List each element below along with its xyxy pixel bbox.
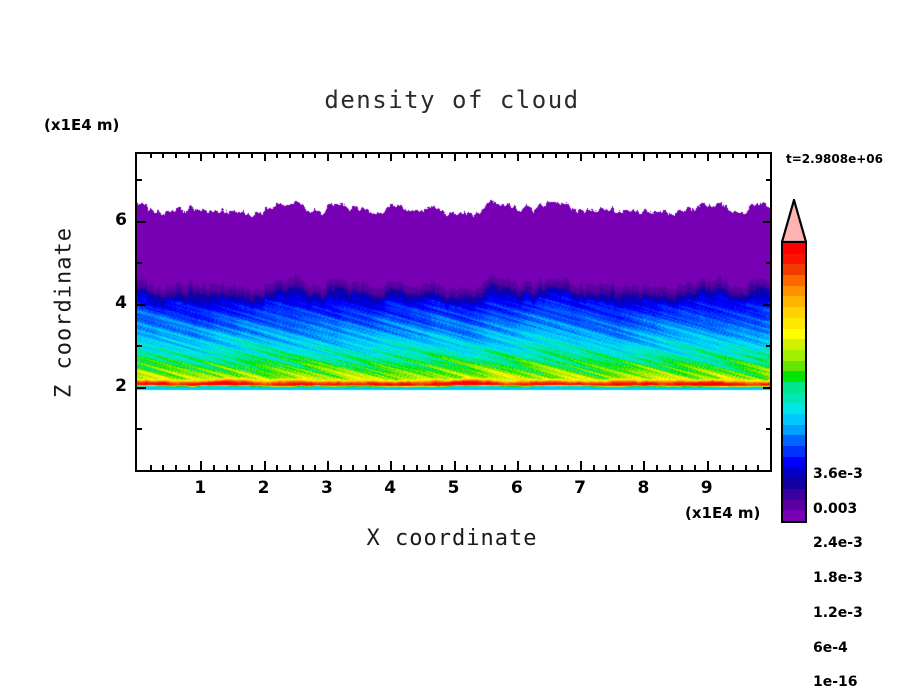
x-tick-minor-top bbox=[504, 154, 506, 158]
x-tick-minor bbox=[669, 465, 671, 470]
x-tick-minor bbox=[656, 465, 658, 470]
y-tick-minor bbox=[137, 262, 142, 264]
x-tick-minor-top bbox=[441, 154, 443, 158]
x-tick-minor bbox=[175, 465, 177, 470]
x-tick-minor bbox=[555, 465, 557, 470]
x-tick-minor-top bbox=[276, 154, 278, 158]
x-tick-minor bbox=[314, 465, 316, 470]
colorbar-tick-label: 1e-16 bbox=[813, 674, 858, 690]
colorbar-band bbox=[783, 457, 805, 468]
colorbar-band bbox=[783, 361, 805, 372]
x-tick-minor-top bbox=[378, 154, 380, 158]
colorbar-tick-label: 3.6e-3 bbox=[813, 466, 863, 482]
x-tick-major-top bbox=[517, 154, 519, 161]
x-tick-minor-top bbox=[681, 154, 683, 158]
colorbar-band bbox=[783, 435, 805, 446]
y-tick-major-right bbox=[763, 387, 770, 389]
x-tick-minor-top bbox=[618, 154, 620, 158]
y-tick-minor-right bbox=[766, 179, 770, 181]
colorbar-band bbox=[783, 403, 805, 414]
x-tick-minor-top bbox=[175, 154, 177, 158]
x-tick-minor bbox=[251, 465, 253, 470]
colorbar-tick-label: 6e-4 bbox=[813, 640, 848, 656]
x-tick-minor-top bbox=[162, 154, 164, 158]
x-tick-minor-top bbox=[302, 154, 304, 158]
colorbar-tick-label: 1.8e-3 bbox=[813, 570, 863, 586]
y-tick-minor bbox=[137, 179, 142, 181]
x-tick-label: 5 bbox=[434, 478, 474, 498]
x-tick-label: 7 bbox=[560, 478, 600, 498]
x-tick-minor-top bbox=[340, 154, 342, 158]
x-tick-minor bbox=[416, 465, 418, 470]
x-tick-minor bbox=[466, 465, 468, 470]
x-tick-major bbox=[454, 461, 456, 470]
x-tick-minor-top bbox=[466, 154, 468, 158]
x-tick-minor bbox=[150, 465, 152, 470]
colorbar-band bbox=[783, 307, 805, 318]
x-tick-minor-top bbox=[732, 154, 734, 158]
x-tick-minor bbox=[631, 465, 633, 470]
colorbar-band bbox=[783, 339, 805, 350]
y-axis-label: Z coordinate bbox=[52, 213, 77, 413]
x-tick-minor bbox=[479, 465, 481, 470]
x-tick-major-top bbox=[707, 154, 709, 161]
x-tick-label: 3 bbox=[307, 478, 347, 498]
x-tick-major-top bbox=[264, 154, 266, 161]
x-tick-minor bbox=[732, 465, 734, 470]
y-tick-minor-right bbox=[766, 262, 770, 264]
x-tick-minor-top bbox=[314, 154, 316, 158]
colorbar-band bbox=[783, 254, 805, 265]
y-tick-major-right bbox=[763, 304, 770, 306]
x-tick-minor bbox=[188, 465, 190, 470]
x-tick-minor bbox=[567, 465, 569, 470]
colorbar-arrow-icon bbox=[781, 199, 807, 243]
x-tick-major bbox=[264, 461, 266, 470]
y-tick-major-right bbox=[763, 221, 770, 223]
x-tick-major-top bbox=[454, 154, 456, 161]
x-tick-major bbox=[327, 461, 329, 470]
x-tick-major bbox=[580, 461, 582, 470]
x-tick-major-top bbox=[390, 154, 392, 161]
x-tick-major bbox=[200, 461, 202, 470]
x-tick-label: 2 bbox=[244, 478, 284, 498]
y-tick-minor-right bbox=[766, 345, 770, 347]
colorbar-band bbox=[783, 393, 805, 404]
colorbar-band bbox=[783, 350, 805, 361]
colorbar-band bbox=[783, 478, 805, 489]
x-tick-minor-top bbox=[416, 154, 418, 158]
x-tick-major-top bbox=[580, 154, 582, 161]
x-tick-major bbox=[517, 461, 519, 470]
x-tick-label: 8 bbox=[623, 478, 663, 498]
x-tick-minor-top bbox=[567, 154, 569, 158]
colorbar-band bbox=[783, 510, 805, 521]
y-tick-major bbox=[137, 221, 146, 223]
colorbar-bands bbox=[781, 241, 807, 523]
colorbar-band bbox=[783, 489, 805, 500]
x-tick-minor bbox=[491, 465, 493, 470]
colorbar-band bbox=[783, 500, 805, 511]
x-tick-minor-top bbox=[745, 154, 747, 158]
x-tick-minor bbox=[618, 465, 620, 470]
x-tick-major-top bbox=[327, 154, 329, 161]
x-tick-major-top bbox=[200, 154, 202, 161]
x-tick-minor-top bbox=[289, 154, 291, 158]
x-tick-minor bbox=[365, 465, 367, 470]
x-tick-minor bbox=[352, 465, 354, 470]
x-tick-minor bbox=[289, 465, 291, 470]
x-tick-minor bbox=[213, 465, 215, 470]
x-axis-unit-label: (x1E4 m) bbox=[685, 504, 760, 522]
colorbar-band bbox=[783, 467, 805, 478]
y-tick-major bbox=[137, 304, 146, 306]
colorbar-band bbox=[783, 371, 805, 382]
colorbar-tick-label: 1.2e-3 bbox=[813, 605, 863, 621]
colorbar-band bbox=[783, 446, 805, 457]
y-tick-minor-right bbox=[766, 428, 770, 430]
x-tick-label: 4 bbox=[370, 478, 410, 498]
x-tick-minor-top bbox=[365, 154, 367, 158]
x-tick-minor bbox=[441, 465, 443, 470]
x-tick-label: 9 bbox=[687, 478, 727, 498]
colorbar-band bbox=[783, 414, 805, 425]
x-tick-minor bbox=[593, 465, 595, 470]
x-tick-minor bbox=[542, 465, 544, 470]
y-tick-label: 4 bbox=[87, 293, 127, 313]
x-tick-major-top bbox=[643, 154, 645, 161]
y-tick-label: 6 bbox=[87, 210, 127, 230]
x-tick-minor bbox=[605, 465, 607, 470]
x-tick-minor-top bbox=[656, 154, 658, 158]
colorbar-tick-label: 0.003 bbox=[813, 501, 857, 517]
x-tick-minor-top bbox=[491, 154, 493, 158]
y-tick-label: 2 bbox=[87, 376, 127, 396]
colorbar-band bbox=[783, 296, 805, 307]
y-tick-major bbox=[137, 387, 146, 389]
x-tick-minor-top bbox=[555, 154, 557, 158]
x-tick-minor bbox=[428, 465, 430, 470]
x-tick-minor bbox=[529, 465, 531, 470]
x-tick-minor bbox=[302, 465, 304, 470]
x-tick-minor-top bbox=[150, 154, 152, 158]
x-axis-label: X coordinate bbox=[0, 526, 904, 551]
colorbar-band bbox=[783, 286, 805, 297]
x-tick-minor-top bbox=[213, 154, 215, 158]
colorbar-band bbox=[783, 243, 805, 254]
x-tick-minor bbox=[745, 465, 747, 470]
x-tick-minor-top bbox=[479, 154, 481, 158]
x-tick-minor bbox=[757, 465, 759, 470]
x-tick-minor-top bbox=[428, 154, 430, 158]
x-tick-minor-top bbox=[631, 154, 633, 158]
x-tick-minor-top bbox=[352, 154, 354, 158]
x-tick-minor bbox=[719, 465, 721, 470]
x-tick-label: 6 bbox=[497, 478, 537, 498]
colorbar-band bbox=[783, 425, 805, 436]
x-tick-minor-top bbox=[238, 154, 240, 158]
x-tick-minor bbox=[378, 465, 380, 470]
x-tick-minor-top bbox=[251, 154, 253, 158]
colorbar-band bbox=[783, 318, 805, 329]
colorbar-band bbox=[783, 275, 805, 286]
x-tick-minor bbox=[162, 465, 164, 470]
x-tick-major bbox=[707, 461, 709, 470]
colorbar-tick-label: 2.4e-3 bbox=[813, 535, 863, 551]
x-tick-minor bbox=[340, 465, 342, 470]
x-tick-minor bbox=[694, 465, 696, 470]
x-tick-minor-top bbox=[403, 154, 405, 158]
colorbar-band bbox=[783, 264, 805, 275]
x-tick-minor bbox=[276, 465, 278, 470]
y-tick-minor bbox=[137, 345, 142, 347]
x-tick-major bbox=[390, 461, 392, 470]
x-tick-minor-top bbox=[719, 154, 721, 158]
colorbar-band bbox=[783, 329, 805, 340]
x-tick-minor-top bbox=[757, 154, 759, 158]
x-tick-minor bbox=[681, 465, 683, 470]
x-tick-minor bbox=[238, 465, 240, 470]
x-tick-label: 1 bbox=[180, 478, 220, 498]
x-tick-minor bbox=[226, 465, 228, 470]
x-tick-minor-top bbox=[226, 154, 228, 158]
x-tick-minor-top bbox=[188, 154, 190, 158]
axis-tick-layer: 123456789246 bbox=[0, 0, 904, 654]
colorbar-band bbox=[783, 382, 805, 393]
x-tick-minor-top bbox=[694, 154, 696, 158]
y-tick-minor bbox=[137, 428, 142, 430]
x-tick-minor-top bbox=[593, 154, 595, 158]
x-tick-minor bbox=[403, 465, 405, 470]
x-tick-minor-top bbox=[605, 154, 607, 158]
x-tick-major bbox=[643, 461, 645, 470]
x-tick-minor-top bbox=[529, 154, 531, 158]
x-tick-minor-top bbox=[669, 154, 671, 158]
x-tick-minor bbox=[504, 465, 506, 470]
x-tick-minor-top bbox=[542, 154, 544, 158]
